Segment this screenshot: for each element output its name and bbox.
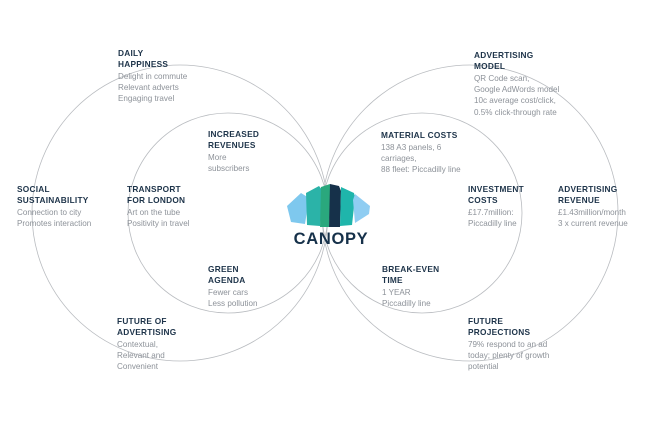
node-body: QR Code scan, Google AdWords model 10c a… <box>474 72 599 117</box>
node-body: 138 A3 panels, 6 carriages, 88 fleet: Pi… <box>381 141 491 175</box>
logo-panel-4 <box>329 184 341 227</box>
node-advertising-model[interactable]: ADVERTISING MODEL QR Code scan, Google A… <box>474 50 599 118</box>
node-body: Delight in commute Relevant adverts Enga… <box>118 70 223 104</box>
node-body: £1.43million/month 3 x current revenue <box>558 206 650 229</box>
node-body: 79% respond to an ad today; plenty of gr… <box>468 338 588 372</box>
node-break-even-time[interactable]: BREAK-EVEN TIME 1 YEAR Piccadilly line <box>382 264 474 309</box>
node-title: FUTURE PROJECTIONS <box>468 316 588 338</box>
node-body: More subscribers <box>208 151 298 174</box>
node-title: TRANSPORT FOR LONDON <box>127 184 222 206</box>
node-body: Art on the tube Positivity in travel <box>127 206 222 229</box>
node-advertising-revenue[interactable]: ADVERTISING REVENUE £1.43million/month 3… <box>558 184 650 229</box>
logo-panel-1 <box>287 193 309 224</box>
canopy-wordmark: CANOPY <box>285 230 377 249</box>
node-title: BREAK-EVEN TIME <box>382 264 474 286</box>
node-body: Connection to city Promotes interaction <box>17 206 125 229</box>
node-title: GREEN AGENDA <box>208 264 298 286</box>
node-title: FUTURE OF ADVERTISING <box>117 316 217 338</box>
infographic-canvas: DAILY HAPPINESS Delight in commute Relev… <box>0 0 650 427</box>
node-title: SOCIAL SUSTAINABILITY <box>17 184 125 206</box>
node-title: INVESTMENT COSTS <box>468 184 558 206</box>
node-title: DAILY HAPPINESS <box>118 48 223 70</box>
node-future-projections[interactable]: FUTURE PROJECTIONS 79% respond to an ad … <box>468 316 588 373</box>
node-title: MATERIAL COSTS <box>381 130 491 141</box>
node-social-sustainability[interactable]: SOCIAL SUSTAINABILITY Connection to city… <box>17 184 125 229</box>
node-material-costs[interactable]: MATERIAL COSTS 138 A3 panels, 6 carriage… <box>381 130 491 175</box>
canopy-fan-logo-icon <box>285 180 377 230</box>
node-title: INCREASED REVENUES <box>208 129 298 151</box>
node-daily-happiness[interactable]: DAILY HAPPINESS Delight in commute Relev… <box>118 48 223 105</box>
logo-panel-6 <box>353 194 370 223</box>
node-increased-revenues[interactable]: INCREASED REVENUES More subscribers <box>208 129 298 174</box>
node-title: ADVERTISING MODEL <box>474 50 599 72</box>
node-title: ADVERTISING REVENUE <box>558 184 650 206</box>
node-investment-costs[interactable]: INVESTMENT COSTS £17.7million: Piccadill… <box>468 184 558 229</box>
node-future-of-advertising[interactable]: FUTURE OF ADVERTISING Contextual, Releva… <box>117 316 217 373</box>
node-body: 1 YEAR Piccadilly line <box>382 286 474 309</box>
node-body: Contextual, Relevant and Convenient <box>117 338 217 372</box>
node-green-agenda[interactable]: GREEN AGENDA Fewer cars Less pollution <box>208 264 298 309</box>
node-body: Fewer cars Less pollution <box>208 286 298 309</box>
canopy-logo: CANOPY <box>285 180 377 252</box>
node-transport-for-london[interactable]: TRANSPORT FOR LONDON Art on the tube Pos… <box>127 184 222 229</box>
node-body: £17.7million: Piccadilly line <box>468 206 558 229</box>
logo-panel-5 <box>340 187 355 226</box>
